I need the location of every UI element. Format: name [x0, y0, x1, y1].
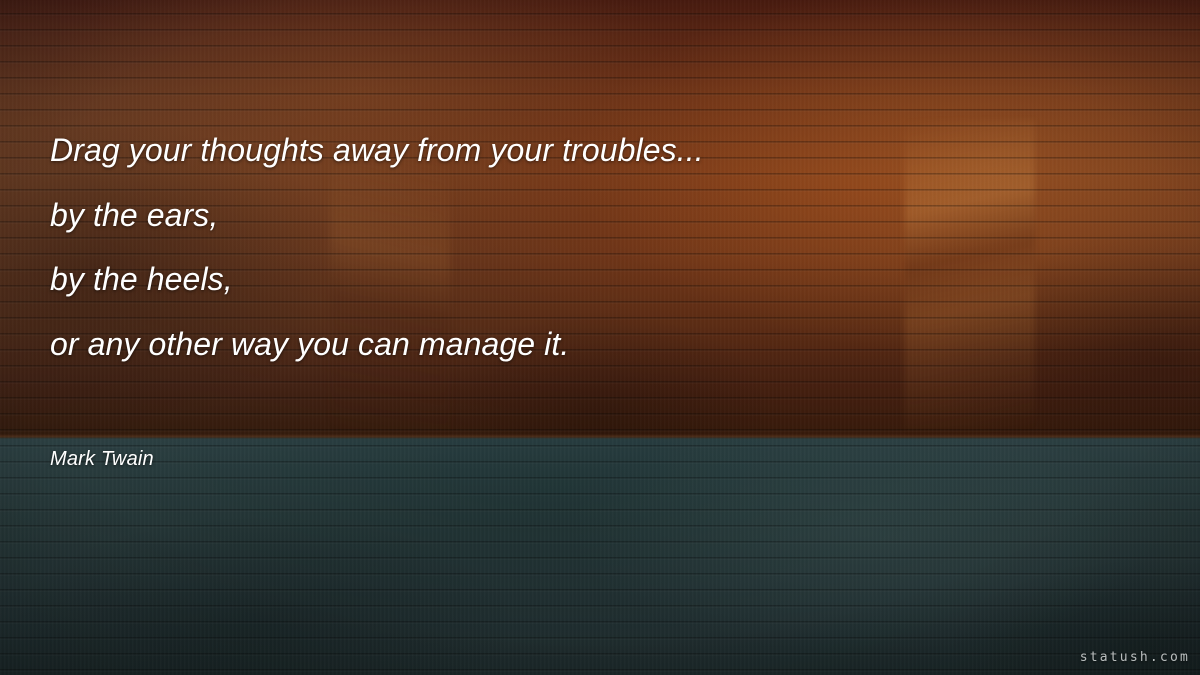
quote-line: by the heels,: [50, 247, 1150, 312]
quote-line: Drag your thoughts away from your troubl…: [50, 118, 1150, 183]
site-watermark: statush.com: [1080, 650, 1190, 665]
background-bottom-panel: [0, 438, 1200, 675]
quote-line: or any other way you can manage it.: [50, 312, 1150, 377]
quote-card: Drag your thoughts away from your troubl…: [0, 0, 1200, 675]
quote-line: by the ears,: [50, 183, 1150, 248]
quote-author: Mark Twain: [50, 448, 154, 471]
quote-text-block: Drag your thoughts away from your troubl…: [50, 118, 1150, 376]
